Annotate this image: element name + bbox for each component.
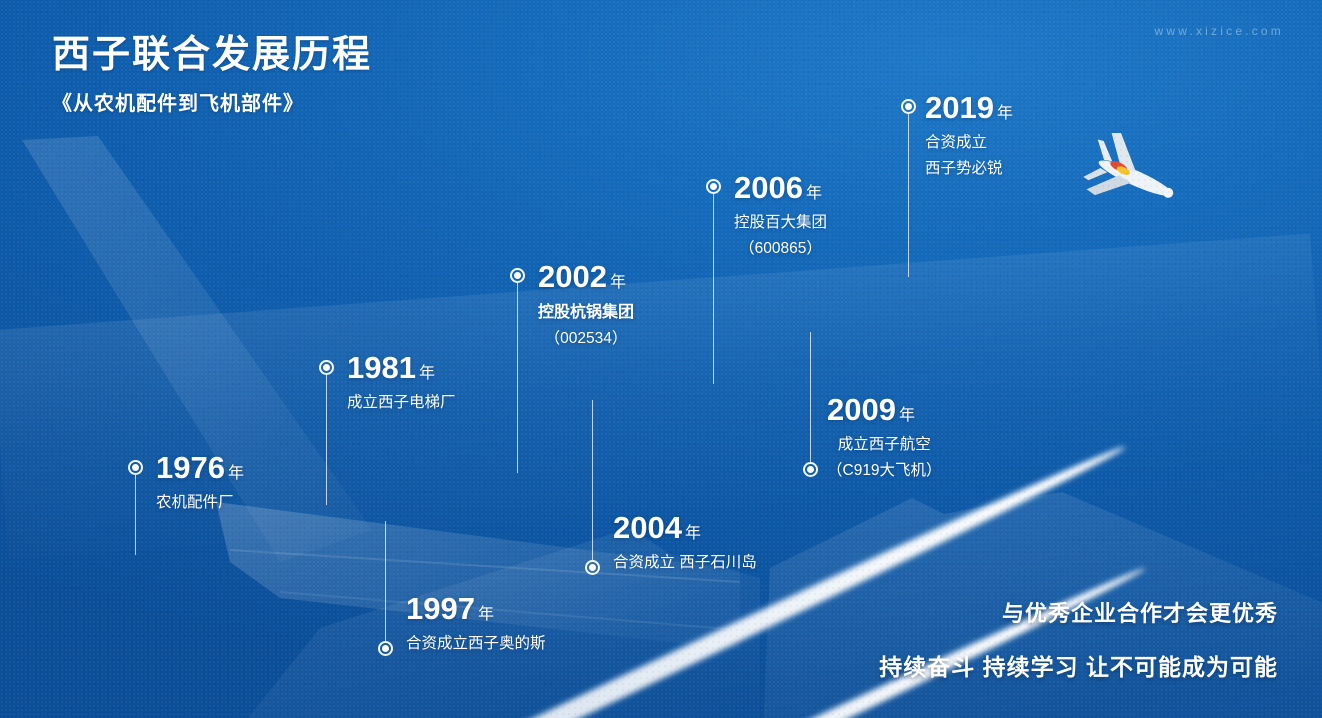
watermark: www.xizice.com <box>1155 24 1284 38</box>
timeline-year: 2002年 <box>538 261 634 292</box>
timeline-dot-icon <box>319 360 334 375</box>
timeline-connector <box>326 375 327 505</box>
timeline-connector <box>810 332 811 464</box>
slogan-block: 与优秀企业合作才会更优秀 持续奋斗 持续学习 让不可能成为可能 <box>879 596 1278 682</box>
timeline-connector <box>135 475 136 555</box>
timeline-description: 合资成立 西子石川岛 <box>613 552 757 574</box>
page-subtitle: 《从农机配件到飞机部件》 <box>52 87 372 116</box>
airplane-icon <box>1078 133 1188 219</box>
timeline-dot-icon <box>378 641 393 656</box>
timeline-connector <box>592 400 593 560</box>
timeline-node-text: 2002年 控股杭锅集团 （002534） <box>538 261 634 351</box>
timeline-connector <box>517 283 518 473</box>
title-block: 西子联合发展历程 《从农机配件到飞机部件》 <box>52 34 372 116</box>
timeline-year: 2009年 <box>827 394 942 425</box>
timeline-node-text: 2004年 合资成立 西子石川岛 <box>613 512 757 574</box>
timeline-dot-icon <box>510 268 525 283</box>
timeline-year: 1997年 <box>406 593 546 624</box>
timeline-description: 控股杭锅集团 <box>538 301 634 324</box>
timeline-year: 1976年 <box>156 452 244 483</box>
timeline-node-text: 2019年 合资成立 西子势必锐 <box>925 92 1013 181</box>
timeline-node-text: 1981年 成立西子电梯厂 <box>347 352 456 414</box>
timeline-description: 合资成立西子奥的斯 <box>406 633 546 655</box>
page-title: 西子联合发展历程 <box>52 34 372 78</box>
timeline-description: 成立西子航空 <box>827 434 942 456</box>
timeline-node-text: 1976年 农机配件厂 <box>156 452 244 514</box>
timeline-dot-icon <box>901 99 916 114</box>
timeline-description-second: 西子势必锐 <box>925 158 1013 180</box>
timeline-node-text: 2009年 成立西子航空 （C919大飞机） <box>827 394 942 483</box>
slogan-line-1: 与优秀企业合作才会更优秀 <box>879 596 1278 628</box>
timeline-year: 2019年 <box>925 92 1013 123</box>
timeline-year: 2006年 <box>734 172 827 203</box>
timeline-dot-icon <box>706 179 721 194</box>
timeline-dot-icon <box>803 462 818 477</box>
timeline-node-text: 2006年 控股百大集团 （600865） <box>734 172 827 261</box>
timeline-description: 农机配件厂 <box>156 492 244 514</box>
timeline-dot-icon <box>585 560 600 575</box>
timeline-connector <box>713 194 714 384</box>
infographic-canvas: www.xizice.com 西子联合发展历程 《从农机配件到飞机部件》 197… <box>0 0 1322 718</box>
timeline-connector <box>908 114 909 277</box>
timeline-description: 合资成立 <box>925 132 1013 154</box>
timeline-node-text: 1997年 合资成立西子奥的斯 <box>406 593 546 655</box>
timeline-description-code: （002534） <box>538 328 634 350</box>
timeline-description: 控股百大集团 <box>734 212 827 234</box>
timeline-connector <box>385 521 386 641</box>
slogan-line-2: 持续奋斗 持续学习 让不可能成为可能 <box>879 648 1278 682</box>
timeline-description: 成立西子电梯厂 <box>347 392 456 414</box>
timeline-year: 1981年 <box>347 352 456 383</box>
timeline-year: 2004年 <box>613 512 757 543</box>
timeline-dot-icon <box>128 460 143 475</box>
timeline-description-code: （600865） <box>734 238 827 260</box>
timeline-description-code: （C919大飞机） <box>827 460 942 482</box>
